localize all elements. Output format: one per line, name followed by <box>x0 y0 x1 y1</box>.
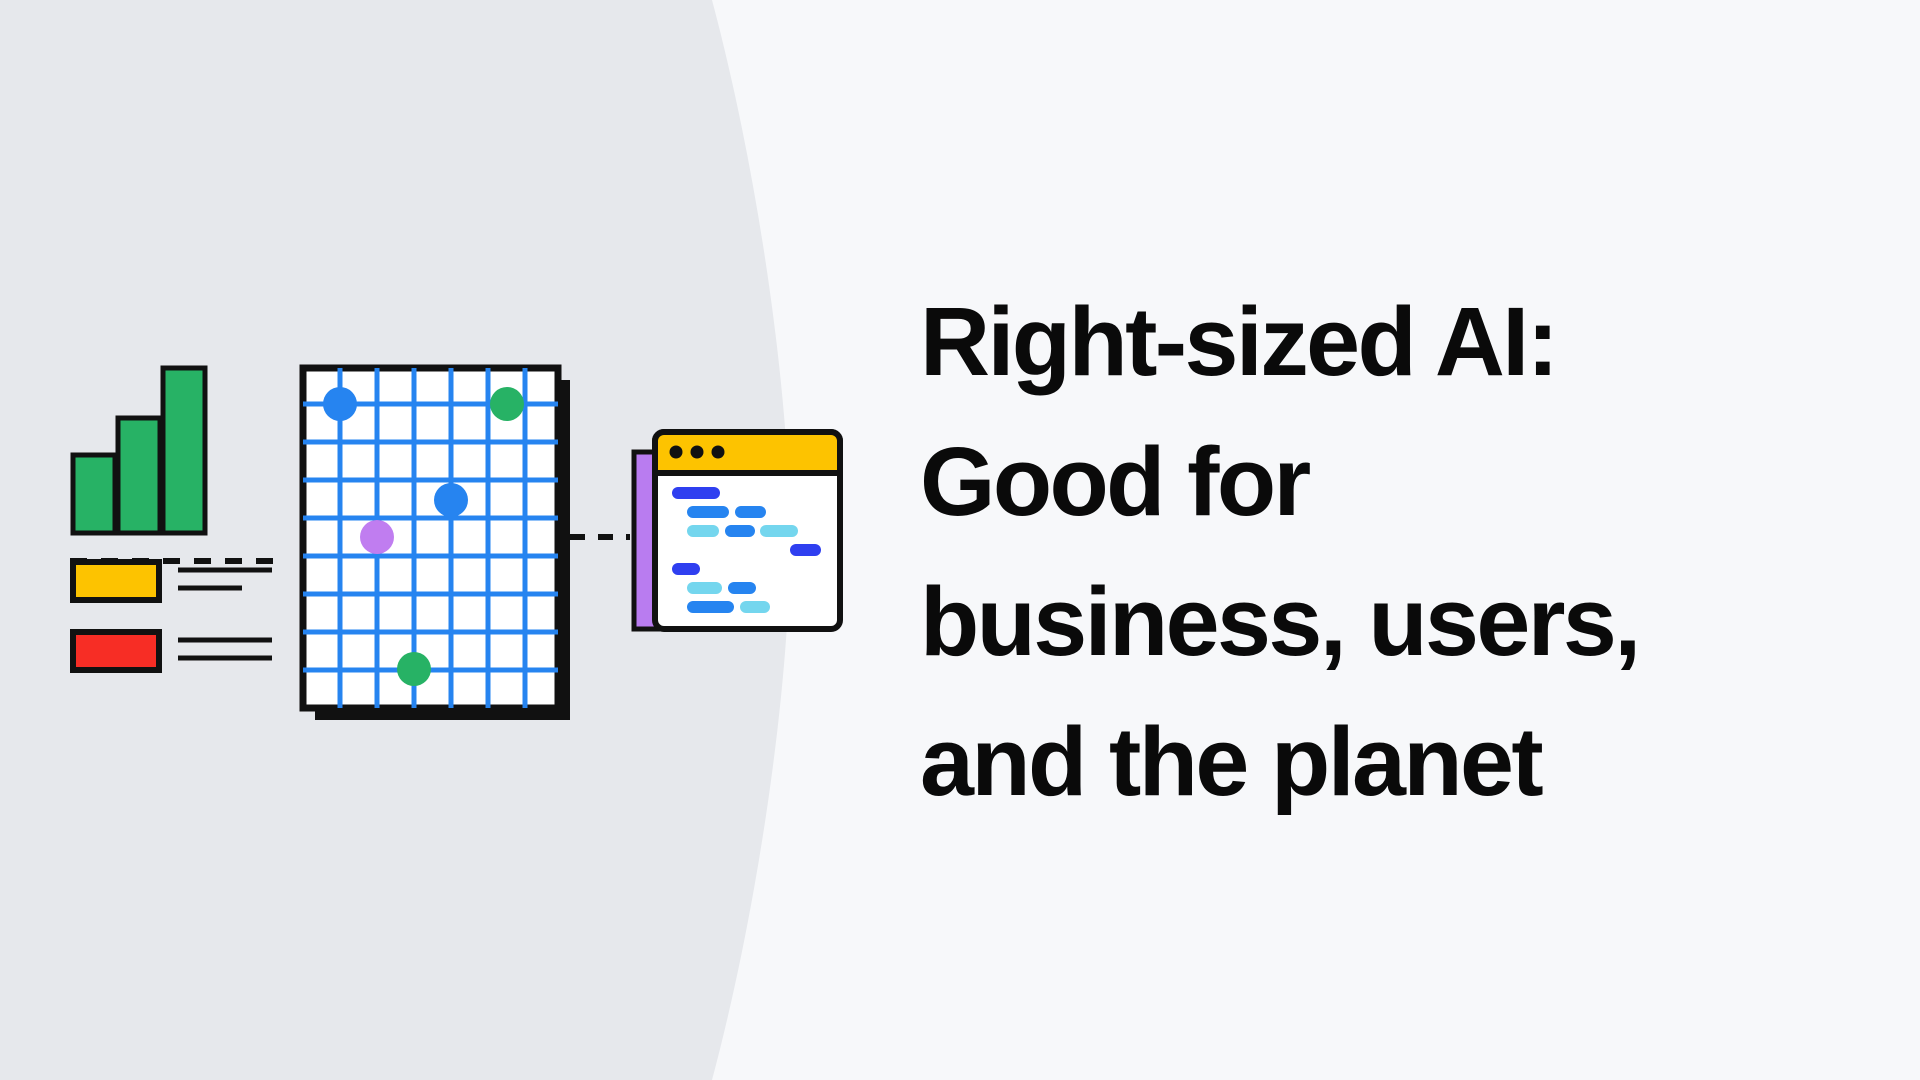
legend-swatch-yellow <box>73 562 159 600</box>
code-line-pill <box>760 525 798 537</box>
headline-line-1: Right-sized AI: <box>920 272 1810 412</box>
code-line-pill <box>687 525 719 537</box>
hero-banner: Right-sized AI: Good for business, users… <box>0 0 1920 1080</box>
code-line-pill <box>728 582 756 594</box>
legend-swatch-red <box>73 632 159 670</box>
point-green-1 <box>490 387 524 421</box>
bar-large <box>163 368 205 533</box>
editor-titlebar <box>655 432 840 473</box>
legend-item-red <box>73 632 272 670</box>
illustration-svg <box>0 0 900 1080</box>
code-line-pill <box>687 582 722 594</box>
scatter-grid-card <box>303 368 570 720</box>
code-line-pill <box>672 563 700 575</box>
page-title: Right-sized AI: Good for business, users… <box>920 272 1810 832</box>
point-purple-1 <box>360 520 394 554</box>
headline-line-4: and the planet <box>920 692 1810 832</box>
headline-line-2: Good for <box>920 412 1810 552</box>
code-line-pill <box>725 525 755 537</box>
code-line-pill <box>687 601 734 613</box>
point-blue-1 <box>323 387 357 421</box>
code-line-pill <box>672 487 720 499</box>
window-dot-icon <box>670 446 683 459</box>
code-line-pill <box>687 506 729 518</box>
window-dot-icon <box>691 446 704 459</box>
point-green-2 <box>397 652 431 686</box>
point-blue-2 <box>434 483 468 517</box>
code-line-pill <box>790 544 821 556</box>
bar-chart-group <box>73 368 205 533</box>
code-line-pill <box>740 601 770 613</box>
code-line-pill <box>735 506 766 518</box>
code-editor-window <box>634 432 840 629</box>
bar-small <box>73 455 115 533</box>
bar-medium <box>118 418 160 533</box>
window-dot-icon <box>712 446 725 459</box>
illustration-container <box>0 0 900 1080</box>
legend-item-yellow <box>73 562 272 600</box>
headline-line-3: business, users, <box>920 552 1810 692</box>
